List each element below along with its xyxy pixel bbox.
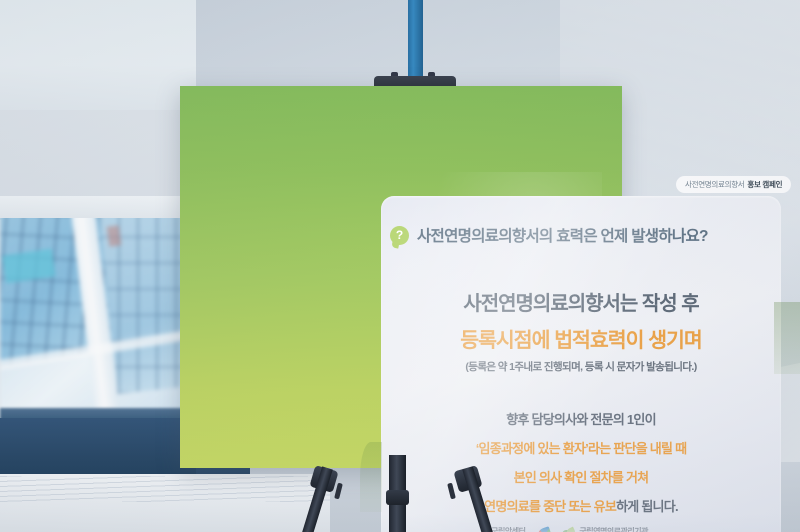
ncc-logo-ko: 국립암센터 — [491, 528, 535, 532]
logo-national-cancer-center: 국립암센터 NATIONAL CANCER CENTER — [491, 528, 551, 532]
board-shade-left — [360, 442, 382, 512]
campaign-badge: 사전연명의료의향서 홍보 캠페인 — [676, 176, 791, 193]
campaign-badge-strong: 홍보 캠페인 — [747, 179, 782, 190]
campaign-badge-prefix: 사전연명의료의향서 — [685, 179, 744, 190]
poster-heading: 사전연명의료의향서의 효력은 언제 발생하나요? — [417, 224, 708, 246]
statement-line-2-highlight: 등록시점에 법적효력이 생기며 — [381, 323, 781, 353]
floor-line-texture — [0, 476, 330, 502]
paragraph-line-4: 연명의료를 중단 또는 유보하게 됩니다. — [381, 496, 781, 515]
paragraph-line-3: 본인 의사 확인 절차를 거쳐 — [381, 467, 781, 486]
window-red-accent — [107, 225, 122, 246]
leaf-icon — [562, 528, 576, 532]
poster-board: 사전연명의료의향서 홍보 캠페인 ? 사전연명의료의향서의 효력은 언제 발생하… — [180, 86, 622, 468]
paragraph-line-4-highlight: 연명의료를 중단 또는 유보 — [484, 499, 616, 514]
poster-footer-logos: 국립암센터 NATIONAL CANCER CENTER 국립연명의료관리기관 … — [381, 528, 781, 532]
statement-note: (등록은 약 1주내로 진행되며, 등록 시 문자가 발송됩니다.) — [381, 359, 781, 374]
ncc-ribbon-icon — [537, 526, 553, 532]
question-mark-glyph: ? — [396, 229, 403, 241]
statement-line-1: 사전연명의료의향서는 작성 후 — [381, 287, 781, 316]
paragraph-line-4-tail: 하게 됩니다. — [616, 499, 678, 514]
agency-logo-ko: 국립연명의료관리기관 — [579, 528, 671, 532]
paragraph-line-2: ‘임종과정에 있는 환자’라는 판단을 내릴 때 — [381, 438, 781, 457]
paragraph-line-1: 향후 담당의사와 전문의 1인이 — [381, 409, 781, 428]
question-mark-icon: ? — [390, 226, 409, 245]
ncc-logo-text: 국립암센터 NATIONAL CANCER CENTER — [491, 528, 535, 532]
poster-panel: ? 사전연명의료의향서의 효력은 언제 발생하나요? 사전연명의료의향서는 작성… — [381, 196, 781, 532]
leaf-icon-part-2 — [566, 527, 577, 532]
logo-life-sustaining-agency: 국립연명의료관리기관 National Agency for Managemen… — [562, 528, 671, 532]
office-window — [0, 212, 196, 418]
photo-scene: 사전연명의료의향서 홍보 캠페인 ? 사전연명의료의향서의 효력은 언제 발생하… — [0, 0, 800, 532]
tripod-collar — [386, 490, 409, 505]
question-heading-row: ? 사전연명의료의향서의 효력은 언제 발생하나요? — [390, 224, 708, 246]
blue-pole — [408, 0, 423, 86]
agency-logo-text: 국립연명의료관리기관 National Agency for Managemen… — [579, 528, 671, 532]
window-header-trim — [0, 196, 196, 218]
board-shade-right — [774, 302, 800, 374]
